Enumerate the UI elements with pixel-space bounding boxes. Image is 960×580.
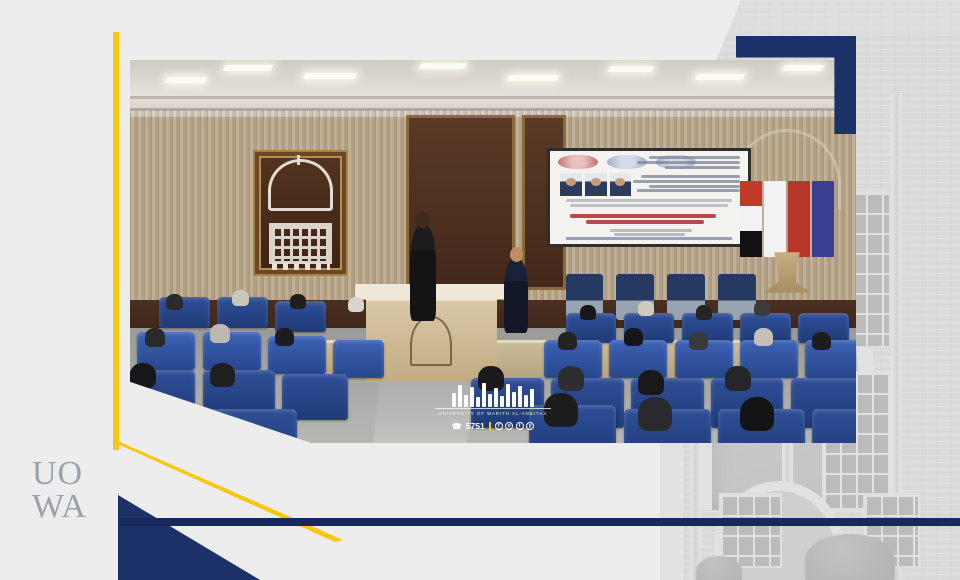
audience-person [638, 370, 664, 395]
youtube-icon[interactable]: y [526, 422, 534, 430]
calligraphy-dome-motif [268, 159, 333, 210]
event-photo: UNIVERSITY OF WARITH AL-ANBIYAA ☎ 5751 f… [130, 60, 856, 443]
university-name-en: UNIVERSITY OF WARITH AL-ANBIYAA [435, 408, 551, 416]
audience-person [580, 305, 596, 320]
uowa-logo: UO WA [32, 458, 87, 523]
contact-row: ☎ 5751 f o t y [393, 421, 593, 431]
slide-portrait [610, 173, 632, 195]
audience-person [145, 328, 165, 347]
audience-person [754, 328, 773, 346]
audience-person [696, 305, 712, 320]
uowa-logo-line2: WA [32, 491, 87, 522]
phone-icon: ☎ [452, 422, 462, 431]
uowa-logo-line1: UO [32, 458, 87, 489]
social-icons: f o t y [495, 422, 535, 430]
audience-person [812, 332, 831, 350]
yellow-vertical-stripe [113, 32, 119, 450]
arabic-calligraphy-panel [253, 150, 347, 276]
slide-portraits [560, 173, 631, 195]
contact-divider [489, 422, 491, 431]
audience-person [166, 294, 183, 310]
audience-person [638, 301, 654, 316]
audience-person [210, 324, 230, 343]
red-flag [788, 181, 810, 257]
flag-stand [758, 252, 816, 292]
audience-person [275, 328, 294, 346]
telegram-icon[interactable]: t [516, 422, 524, 430]
audience-person [754, 301, 770, 316]
navy-triangle-accent [118, 495, 260, 580]
blue-flag [812, 181, 834, 257]
podium-crest [410, 316, 452, 366]
audience-person [689, 332, 708, 350]
standing-person-speaker [504, 259, 528, 333]
audience-person [638, 397, 672, 431]
backdrop-shrub [696, 556, 742, 580]
phone-number: 5751 [466, 421, 485, 431]
event-photo-scene: UNIVERSITY OF WARITH AL-ANBIYAA ☎ 5751 f… [130, 60, 856, 443]
calligraphy-dot-row [272, 263, 330, 270]
audience-person [232, 290, 249, 306]
backdrop-shrub [805, 534, 895, 580]
standing-person-photographer [410, 225, 436, 321]
audience-person [725, 366, 751, 391]
slide-portrait [585, 173, 607, 195]
iraq-flag [740, 181, 762, 257]
photo-logo-watermark: UNIVERSITY OF WARITH AL-ANBIYAA ☎ 5751 f… [393, 381, 593, 431]
navy-bottom-bar [120, 518, 960, 526]
facebook-icon[interactable]: f [495, 422, 503, 430]
audience-person [348, 297, 364, 312]
audience-person [130, 363, 156, 388]
slide-footer-line [566, 237, 732, 240]
arabic-wordmark-icon [435, 381, 551, 407]
slide-logo [558, 155, 598, 170]
university-flag [764, 181, 786, 257]
audience-person [210, 363, 235, 387]
instagram-icon[interactable]: o [505, 422, 513, 430]
audience-person [624, 328, 643, 346]
banner-canvas: UNIVERSITY OF WARITH AL-ANBIYAA ☎ 5751 f… [0, 0, 960, 580]
audience-person [130, 397, 162, 429]
slide-portrait [560, 173, 582, 195]
audience-person [558, 332, 577, 350]
calligraphy-kufic-block [269, 223, 332, 264]
flag-group [740, 181, 834, 257]
audience-person [740, 397, 774, 431]
projection-screen [547, 148, 750, 248]
audience-person [290, 294, 306, 309]
